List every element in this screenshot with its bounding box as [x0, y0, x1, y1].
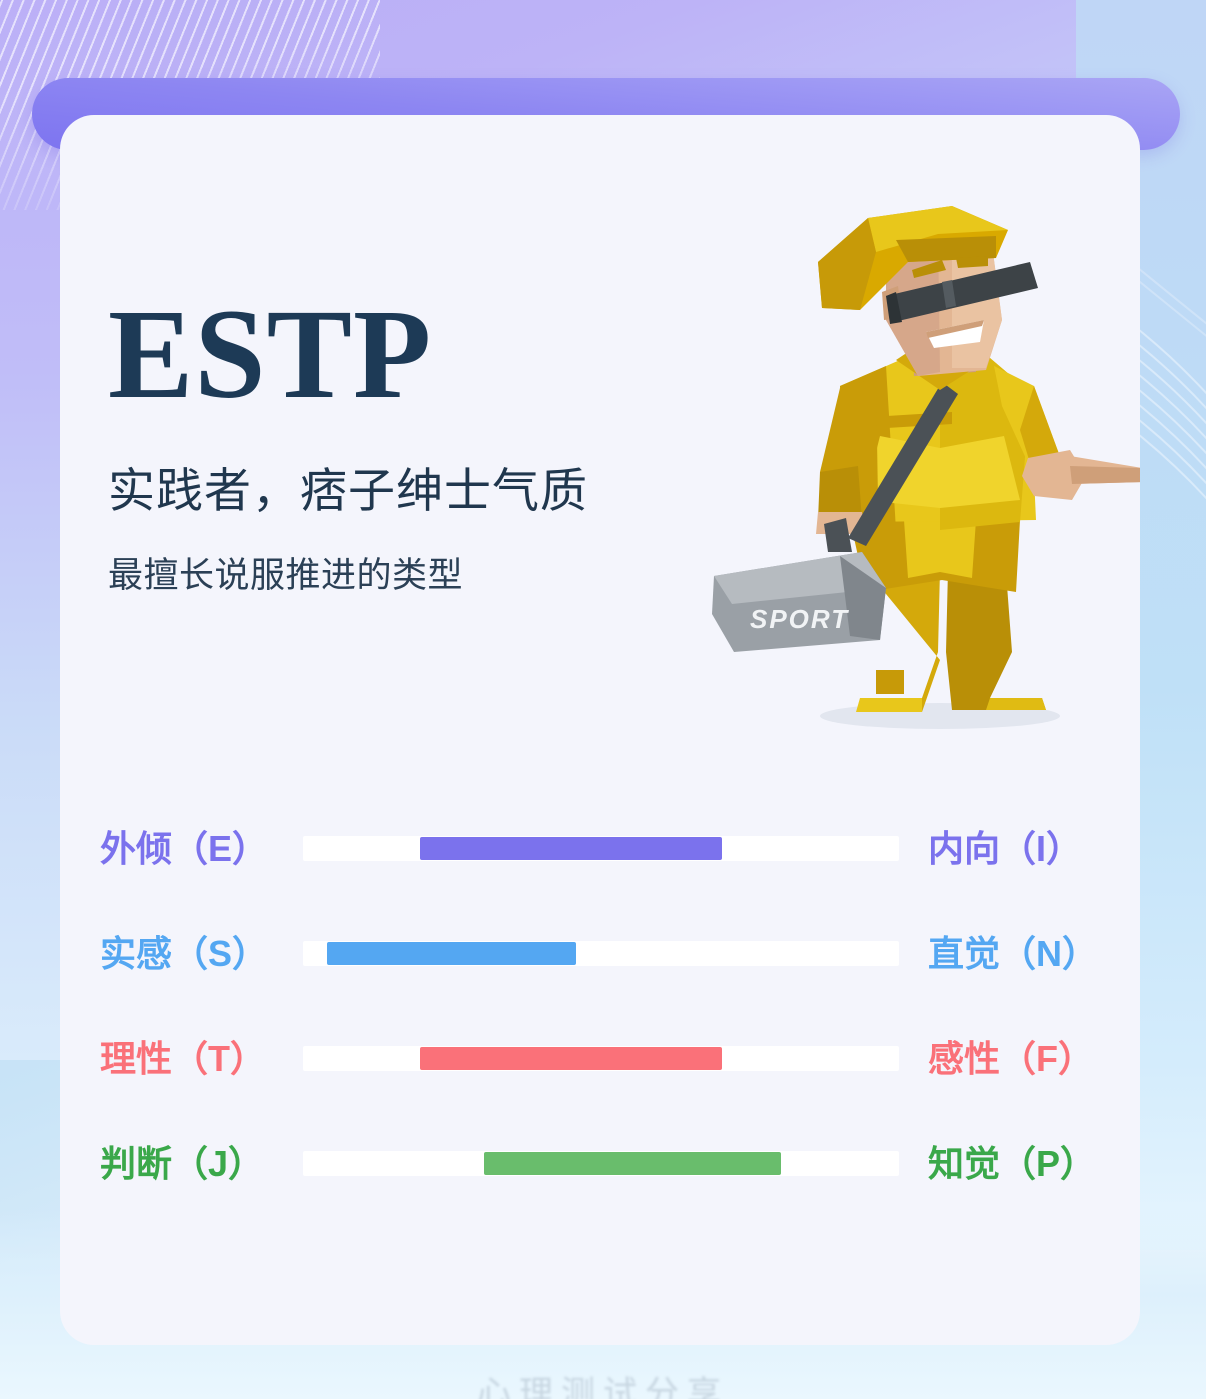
svg-text:SPORT: SPORT — [750, 604, 849, 634]
watermark: 心理测试分享 — [0, 1366, 1206, 1399]
headline-block: ESTP 实践者，痞子绅士气质 最擅长说服推进的类型 — [108, 290, 708, 598]
personality-card: ESTP 实践者，痞子绅士气质 最擅长说服推进的类型 — [60, 115, 1140, 1345]
poster-stage: ESTP 实践者，痞子绅士气质 最擅长说服推进的类型 — [0, 0, 1206, 1399]
page-title: ESTP — [108, 290, 708, 418]
dimension-fill — [420, 1047, 722, 1070]
estp-character-illustration: SPORT — [690, 200, 1140, 740]
subtagline: 最擅长说服推进的类型 — [108, 547, 708, 598]
dimension-fill — [484, 1152, 781, 1175]
dimension-left-label: 判断（J） — [100, 1143, 300, 1185]
dimension-track[interactable] — [303, 836, 899, 861]
dimension-bars-list: 外倾（E） 内向（I） 实感（S） 直觉（N） 理性（T） 感性（F） — [60, 828, 1140, 1248]
dimension-left-label: 实感（S） — [100, 933, 300, 975]
dimension-right-label: 感性（F） — [928, 1038, 1140, 1080]
dimension-right-label: 内向（I） — [928, 828, 1140, 870]
dimension-row: 实感（S） 直觉（N） — [60, 933, 1140, 1038]
dimension-track[interactable] — [303, 1151, 899, 1176]
dimension-left-label: 理性（T） — [100, 1038, 300, 1080]
dimension-row: 外倾（E） 内向（I） — [60, 828, 1140, 933]
dimension-fill — [420, 837, 722, 860]
dimension-right-label: 知觉（P） — [928, 1143, 1140, 1185]
dimension-right-label: 直觉（N） — [928, 933, 1140, 975]
dimension-row: 理性（T） 感性（F） — [60, 1038, 1140, 1143]
dimension-row: 判断（J） 知觉（P） — [60, 1143, 1140, 1248]
tagline: 实践者，痞子绅士气质 — [108, 452, 708, 521]
dimension-fill — [327, 942, 576, 965]
dimension-left-label: 外倾（E） — [100, 828, 300, 870]
dimension-track[interactable] — [303, 941, 899, 966]
dimension-track[interactable] — [303, 1046, 899, 1071]
